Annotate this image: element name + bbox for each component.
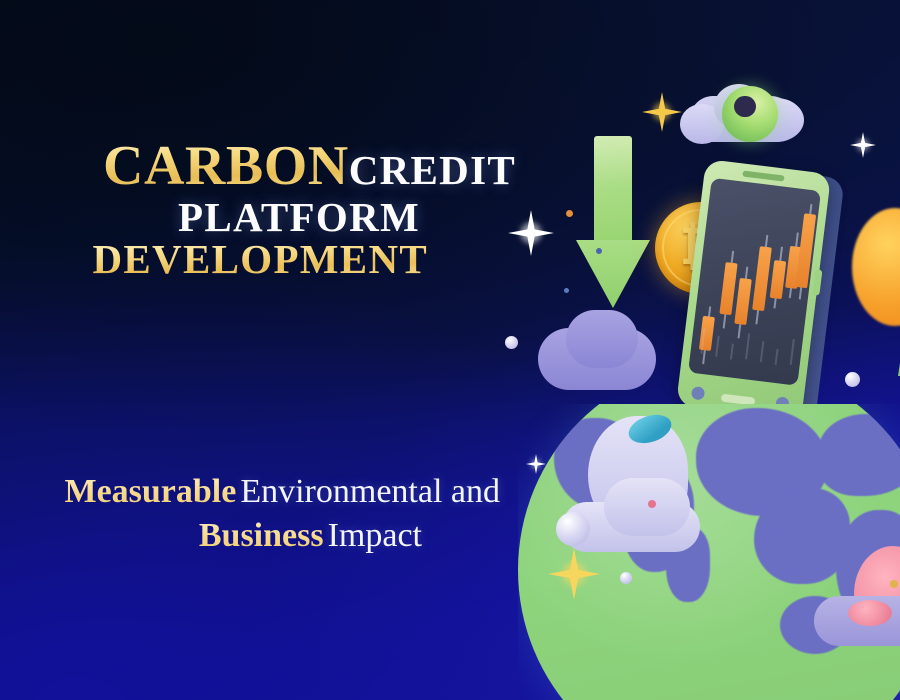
phone-speaker (742, 171, 784, 182)
illustration-group: ₿ (500, 60, 900, 660)
headline-block: CARBONCREDIT PLATFORM DEVELOPMENT (0, 138, 516, 280)
subheadline-block: Measurable Environmental and Business Im… (0, 470, 500, 557)
phone-screen (688, 178, 821, 386)
headline-line-1: CARBONCREDIT (0, 138, 516, 196)
headline-platform: PLATFORM (178, 194, 420, 240)
pink-blob-small (848, 600, 892, 626)
sphere-decor-c (620, 572, 632, 584)
smartphone-icon (683, 163, 844, 427)
gold-sparkle-top (642, 92, 682, 132)
chart-gridline (730, 343, 734, 359)
sphere-decor-a (556, 512, 590, 546)
subheadline-impact: Impact (328, 517, 422, 554)
candle-body (752, 246, 772, 311)
down-arrow-icon (576, 136, 650, 308)
candle-body (719, 262, 737, 315)
headline-credit: CREDIT (349, 147, 516, 193)
banner-hero: ₿ (0, 0, 900, 700)
sphere-decor-d (505, 336, 518, 349)
chart-gridline (715, 336, 720, 357)
sphere-decor-b (845, 372, 860, 387)
chart-gridline (745, 333, 750, 359)
subheadline-measurable: Measurable (64, 473, 236, 510)
dot-b (566, 210, 573, 217)
headline-line-2: PLATFORM (0, 196, 516, 238)
globe-cloud-c (604, 478, 690, 536)
orange-blob (852, 208, 900, 326)
candlestick-chart (712, 178, 821, 191)
white-sparkle-right (850, 132, 876, 158)
headline-line-3: DEVELOPMENT (0, 238, 516, 280)
subheadline-business: Business (199, 517, 324, 554)
headline-development: DEVELOPMENT (93, 236, 429, 282)
green-orb-icon (722, 86, 778, 142)
subheadline-line-2: Business Impact (0, 514, 500, 558)
candle-body (770, 260, 787, 299)
purple-cloud-left-puff (566, 310, 638, 368)
chart-gridline (790, 339, 795, 365)
chart-gridline (760, 341, 765, 362)
candle-body (734, 278, 752, 325)
subheadline-environmental: Environmental and (240, 473, 500, 510)
phone-button-left (691, 386, 705, 400)
subheadline-line-1: Measurable Environmental and (0, 470, 500, 514)
headline-carbon: CARBON (103, 135, 349, 197)
chart-gridline (775, 349, 779, 365)
phone-home-bar (721, 394, 756, 406)
dot-a (564, 288, 569, 293)
